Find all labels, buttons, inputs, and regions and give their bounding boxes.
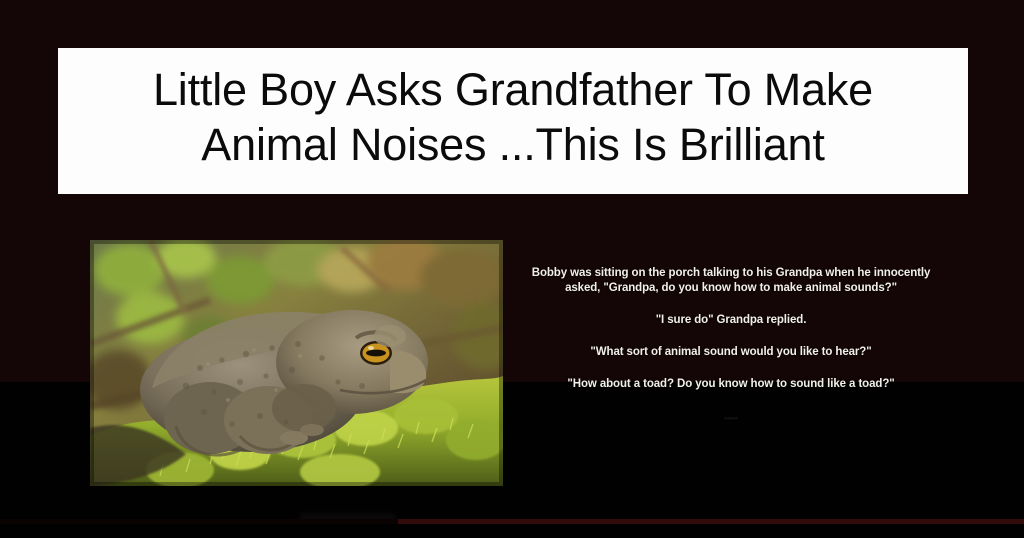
headline-text: Little Boy Asks Grandfather To Make Anim… xyxy=(153,63,873,173)
title-card: Little Boy Asks Grandfather To Make Anim… xyxy=(58,48,968,194)
player-progress-fill[interactable] xyxy=(398,519,1024,524)
story-text: Bobby was sitting on the porch talking t… xyxy=(528,266,934,424)
toad-photo xyxy=(90,240,503,486)
toad-photo-illustration xyxy=(90,240,503,486)
story-paragraph-3: "What sort of animal sound would you lik… xyxy=(528,345,934,360)
video-slide: Little Boy Asks Grandfather To Make Anim… xyxy=(0,0,1024,538)
story-paragraph-2: "I sure do" Grandpa replied. xyxy=(528,313,934,328)
story-paragraph-4: "How about a toad? Do you know how to so… xyxy=(528,377,934,392)
story-paragraph-1: Bobby was sitting on the porch talking t… xyxy=(528,266,934,296)
story-fading-line: ..... xyxy=(528,409,934,424)
